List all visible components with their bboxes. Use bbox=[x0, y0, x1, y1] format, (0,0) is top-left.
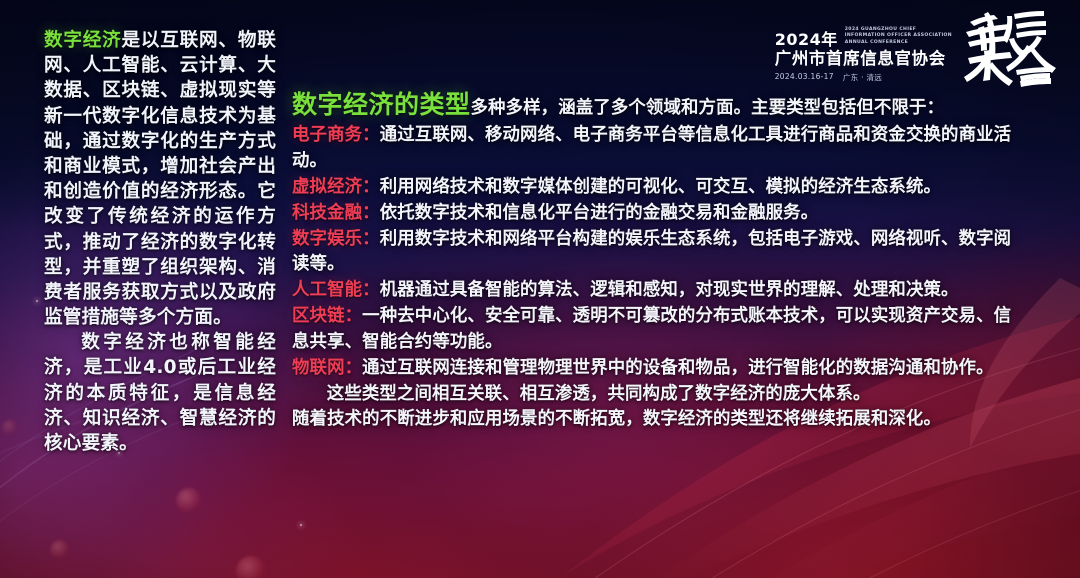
conference-english-name: 2024 GUANGZHOU CHIEF INFORMATION OFFICER… bbox=[845, 27, 952, 48]
brush-calligraphy-annual-conference-icon bbox=[958, 8, 1062, 88]
background-bokeh-2 bbox=[50, 540, 70, 560]
type-label: 科技金融 bbox=[292, 203, 362, 223]
type-separator: ： bbox=[362, 229, 380, 249]
conference-english-line-3: ANNUAL CONFERENCE bbox=[845, 40, 908, 45]
conference-english-line-2: INFORMATION OFFICER ASSOCIATION bbox=[845, 33, 952, 38]
list-item: 电子商务：通过互联网、移动网络、电子商务平台等信息化工具进行商品和资金交换的商业… bbox=[292, 123, 1020, 175]
type-description: 机器通过具备智能的算法、逻辑和感知，对现实世界的理解、处理和决策。 bbox=[380, 280, 959, 300]
left-paragraph-1: 数字经济是以互联网、物联网、人工智能、云计算、大数据、区块链、虚拟现实等新一代数… bbox=[44, 28, 276, 330]
left-keyword-digital-economy: 数字经济 bbox=[44, 30, 122, 51]
conference-date: 2024.03.16-17 bbox=[775, 72, 834, 83]
background-spark-4 bbox=[300, 524, 302, 526]
type-description: 通过互联网、移动网络、电子商务平台等信息化工具进行商品和资金交换的商业活动。 bbox=[292, 125, 1011, 171]
type-description: 利用数字技术和网络平台构建的娱乐生态系统，包括电子游戏、网络视听、数字阅读等。 bbox=[292, 229, 1011, 275]
type-separator: ： bbox=[345, 306, 363, 326]
type-description: 通过互联网连接和管理物理世界中的设备和物品，进行智能化的数据沟通和协作。 bbox=[362, 358, 993, 378]
type-label: 人工智能 bbox=[292, 280, 362, 300]
type-label: 虚拟经济 bbox=[292, 177, 362, 197]
right-intro-paragraph: 数字经济的类型多种多样，涵盖了多个领域和方面。主要类型包括但不限于： bbox=[292, 86, 1020, 123]
background-bokeh-3 bbox=[236, 556, 266, 578]
digital-economy-type-list: 电子商务：通过互联网、移动网络、电子商务平台等信息化工具进行商品和资金交换的商业… bbox=[292, 123, 1020, 381]
background-bokeh-4 bbox=[2, 420, 18, 436]
list-item: 区块链：一种去中心化、安全可靠、透明不可篡改的分布式账本技术，可以实现资产交易、… bbox=[292, 304, 1020, 356]
conference-meta: 2024.03.16-17 广东 · 清远 bbox=[775, 72, 952, 83]
conference-logo-text: 2024年 2024 GUANGZHOU CHIEF INFORMATION O… bbox=[775, 27, 952, 84]
conference-logo-top-row: 2024年 2024 GUANGZHOU CHIEF INFORMATION O… bbox=[775, 27, 952, 48]
left-paragraph-1-body: 是以互联网、物联网、人工智能、云计算、大数据、区块链、虚拟现实等新一代数字化信息… bbox=[44, 30, 276, 328]
conference-english-line-1: 2024 GUANGZHOU CHIEF bbox=[845, 27, 917, 32]
type-separator: ： bbox=[362, 125, 380, 145]
type-description: 依托数字技术和信息化平台进行的金融交易和金融服务。 bbox=[380, 203, 819, 223]
type-separator: ： bbox=[345, 358, 363, 378]
type-label: 区块链 bbox=[292, 306, 345, 326]
background-bokeh-1 bbox=[176, 488, 202, 514]
conference-logo: 2024年 2024 GUANGZHOU CHIEF INFORMATION O… bbox=[775, 22, 1062, 88]
type-separator: ： bbox=[362, 177, 380, 197]
type-label: 数字娱乐 bbox=[292, 229, 362, 249]
list-item: 虚拟经济：利用网络技术和数字媒体创建的可视化、可交互、模拟的经济生态系统。 bbox=[292, 175, 1020, 201]
right-closing-paragraph-2: 随着技术的不断进步和应用场景的不断拓宽，数字经济的类型还将继续拓展和深化。 bbox=[292, 407, 1020, 433]
type-description: 一种去中心化、安全可靠、透明不可篡改的分布式账本技术，可以实现资产交易、信息共享… bbox=[292, 306, 1011, 352]
right-heading-types-of-digital-economy: 数字经济的类型 bbox=[292, 90, 471, 119]
conference-location: 广东 · 清远 bbox=[843, 72, 882, 83]
right-intro-body: 多种多样，涵盖了多个领域和方面。主要类型包括但不限于： bbox=[471, 98, 945, 118]
list-item: 数字娱乐：利用数字技术和网络平台构建的娱乐生态系统，包括电子游戏、网络视听、数字… bbox=[292, 227, 1020, 279]
conference-year: 2024年 bbox=[775, 32, 838, 48]
slide-canvas: 2024年 2024 GUANGZHOU CHIEF INFORMATION O… bbox=[0, 0, 1080, 578]
right-closing-paragraph-1: 这些类型之间相互关联、相互渗透，共同构成了数字经济的庞大体系。 bbox=[292, 382, 1020, 408]
background-spark-3 bbox=[36, 300, 38, 302]
conference-association-name: 广州市首席信息官协会 bbox=[775, 50, 952, 69]
list-item: 科技金融：依托数字技术和信息化平台进行的金融交易和金融服务。 bbox=[292, 201, 1020, 227]
list-item: 人工智能：机器通过具备智能的算法、逻辑和感知，对现实世界的理解、处理和决策。 bbox=[292, 278, 1020, 304]
type-separator: ： bbox=[362, 203, 380, 223]
type-label: 物联网 bbox=[292, 358, 345, 378]
right-text-column: 数字经济的类型多种多样，涵盖了多个领域和方面。主要类型包括但不限于： 电子商务：… bbox=[292, 86, 1020, 433]
list-item: 物联网：通过互联网连接和管理物理世界中的设备和物品，进行智能化的数据沟通和协作。 bbox=[292, 356, 1020, 382]
type-separator: ： bbox=[362, 280, 380, 300]
left-text-column: 数字经济是以互联网、物联网、人工智能、云计算、大数据、区块链、虚拟现实等新一代数… bbox=[44, 28, 276, 456]
left-paragraph-2: 数字经济也称智能经济，是工业4.0或后工业经济的本质特征，是信息经济、知识经济、… bbox=[44, 330, 276, 456]
type-description: 利用网络技术和数字媒体创建的可视化、可交互、模拟的经济生态系统。 bbox=[380, 177, 941, 197]
type-label: 电子商务 bbox=[292, 125, 362, 145]
